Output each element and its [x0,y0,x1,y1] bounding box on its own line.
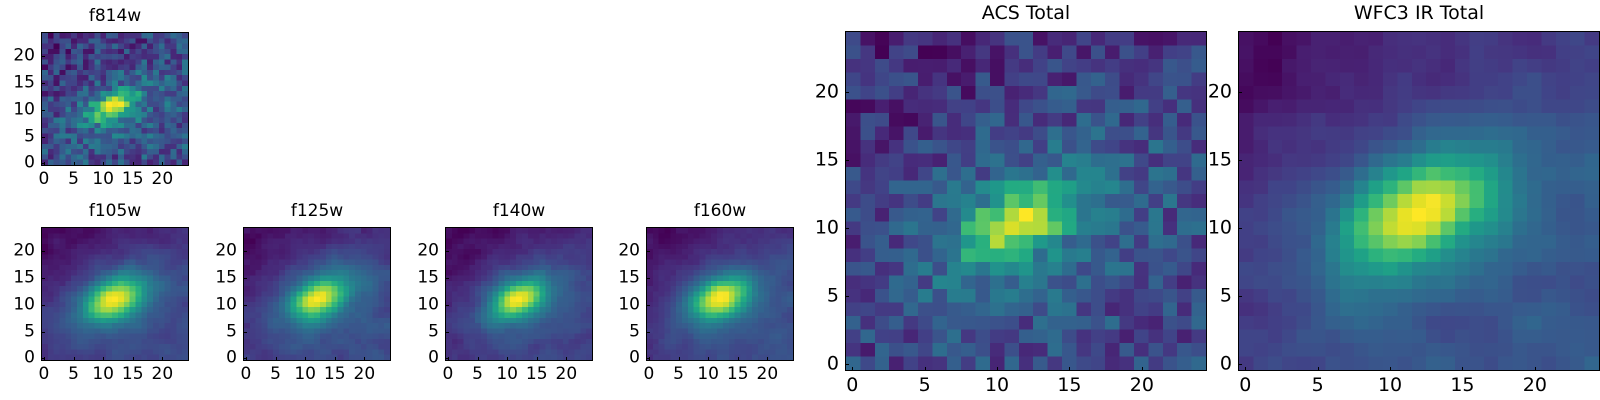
xtick-label-f105w-20: 20 [152,366,174,383]
ytick-mark-f140w-20 [445,251,449,252]
xtick-mark-f140w-0 [448,357,449,361]
heatmap-acs-total [846,32,1206,370]
xtick-mark-f105w-5 [74,357,75,361]
xtick-label-f140w-15: 15 [526,366,548,383]
ytick-label-wfc3-ir-total-5: 5 [1220,287,1232,306]
ytick-mark-f125w-5 [243,332,247,333]
xtick-mark-acs-total-15 [1069,367,1070,371]
ytick-label-wfc3-ir-total-0: 0 [1220,355,1232,374]
heatmap-f105w [42,228,188,360]
ytick-mark-f160w-10 [646,305,650,306]
ytick-label-f125w-20: 20 [215,243,237,260]
axes-f160w [646,227,794,361]
ytick-label-f105w-20: 20 [13,243,35,260]
xtick-label-wfc3-ir-total-15: 15 [1450,376,1474,395]
xtick-label-acs-total-20: 20 [1130,376,1154,395]
ytick-label-f125w-5: 5 [226,323,237,340]
ytick-label-f814w-10: 10 [13,101,35,118]
ytick-label-acs-total-15: 15 [815,151,839,170]
heatmap-wfc3-ir-total [1239,32,1599,370]
ytick-mark-f140w-15 [445,278,449,279]
xtick-mark-wfc3-ir-total-0 [1245,367,1246,371]
axes-f105w [41,227,189,361]
axes-f125w [243,227,391,361]
ytick-label-f140w-20: 20 [417,243,439,260]
xtick-mark-wfc3-ir-total-20 [1535,367,1536,371]
ytick-mark-wfc3-ir-total-15 [1238,160,1242,161]
xtick-mark-f105w-0 [44,357,45,361]
axes-f140w [445,227,593,361]
xtick-label-acs-total-15: 15 [1057,376,1081,395]
ytick-label-f125w-15: 15 [215,269,237,286]
ytick-label-f125w-0: 0 [226,350,237,367]
xtick-mark-f814w-10 [103,162,104,166]
xtick-label-acs-total-0: 0 [846,376,858,395]
xtick-mark-f125w-0 [246,357,247,361]
ytick-label-acs-total-5: 5 [827,287,839,306]
panel-f814w: f814w0510152005101520 [0,0,1600,400]
ytick-label-f140w-10: 10 [417,296,439,313]
ytick-mark-f125w-10 [243,305,247,306]
xtick-label-f814w-10: 10 [92,171,114,188]
ytick-label-f140w-5: 5 [428,323,439,340]
xtick-mark-acs-total-0 [852,367,853,371]
ytick-mark-f105w-10 [41,305,45,306]
ytick-mark-f814w-5 [41,137,45,138]
xtick-label-wfc3-ir-total-20: 20 [1523,376,1547,395]
xtick-label-f160w-15: 15 [727,366,749,383]
axes-acs-total [845,31,1207,371]
xtick-mark-f140w-10 [507,357,508,361]
xtick-label-acs-total-5: 5 [919,376,931,395]
xtick-mark-wfc3-ir-total-10 [1390,367,1391,371]
ytick-mark-f125w-0 [243,358,247,359]
xtick-label-f125w-5: 5 [270,366,281,383]
ytick-label-wfc3-ir-total-10: 10 [1208,219,1232,238]
ytick-mark-f140w-0 [445,358,449,359]
xtick-mark-f814w-0 [44,162,45,166]
xtick-label-wfc3-ir-total-0: 0 [1239,376,1251,395]
ytick-mark-f105w-0 [41,358,45,359]
xtick-mark-wfc3-ir-total-15 [1462,367,1463,371]
ytick-label-f160w-15: 15 [618,269,640,286]
ytick-mark-wfc3-ir-total-0 [1238,364,1242,365]
ytick-label-f140w-0: 0 [428,350,439,367]
ytick-label-f160w-10: 10 [618,296,640,313]
panel-f125w: f125w0510152005101520 [0,0,1600,400]
ytick-mark-acs-total-10 [845,228,849,229]
panel-f160w: f160w0510152005101520 [0,0,1600,400]
ytick-mark-wfc3-ir-total-10 [1238,228,1242,229]
xtick-label-f105w-5: 5 [68,366,79,383]
ytick-label-f160w-5: 5 [629,323,640,340]
xtick-label-f105w-0: 0 [39,366,50,383]
ytick-label-f140w-15: 15 [417,269,439,286]
axes-wfc3-ir-total [1238,31,1600,371]
ytick-mark-f140w-5 [445,332,449,333]
xtick-mark-acs-total-10 [997,367,998,371]
xtick-label-wfc3-ir-total-5: 5 [1312,376,1324,395]
xtick-mark-f105w-20 [162,357,163,361]
ytick-mark-f814w-0 [41,163,45,164]
xtick-mark-f140w-15 [537,357,538,361]
ytick-mark-f125w-20 [243,251,247,252]
xtick-mark-f125w-20 [364,357,365,361]
ytick-mark-acs-total-0 [845,364,849,365]
panel-acs-total: ACS Total0510152005101520 [0,0,1600,400]
xtick-label-f160w-10: 10 [697,366,719,383]
panel-f105w: f105w0510152005101520 [0,0,1600,400]
xtick-mark-f814w-15 [133,162,134,166]
ytick-label-f160w-20: 20 [618,243,640,260]
xtick-label-f140w-5: 5 [472,366,483,383]
xtick-label-wfc3-ir-total-10: 10 [1378,376,1402,395]
panel-title-f125w: f125w [243,203,391,220]
ytick-label-f105w-5: 5 [24,323,35,340]
ytick-mark-acs-total-20 [845,92,849,93]
panel-title-f160w: f160w [646,203,794,220]
xtick-mark-f814w-5 [74,162,75,166]
xtick-label-acs-total-10: 10 [985,376,1009,395]
ytick-mark-acs-total-5 [845,296,849,297]
ytick-mark-f814w-10 [41,110,45,111]
ytick-mark-f140w-10 [445,305,449,306]
ytick-label-f105w-10: 10 [13,296,35,313]
xtick-mark-f140w-5 [478,357,479,361]
xtick-mark-f160w-20 [767,357,768,361]
ytick-label-f125w-10: 10 [215,296,237,313]
panel-title-f105w: f105w [41,203,189,220]
ytick-mark-f125w-15 [243,278,247,279]
heatmap-f140w [446,228,592,360]
panel-title-f814w: f814w [41,8,189,25]
xtick-label-f814w-15: 15 [122,171,144,188]
ytick-mark-f160w-15 [646,278,650,279]
ytick-label-acs-total-0: 0 [827,355,839,374]
ytick-mark-f105w-20 [41,251,45,252]
xtick-label-f125w-10: 10 [294,366,316,383]
xtick-mark-f814w-20 [162,162,163,166]
xtick-mark-f160w-0 [649,357,650,361]
xtick-label-f160w-0: 0 [644,366,655,383]
ytick-label-f105w-15: 15 [13,269,35,286]
xtick-mark-f125w-10 [305,357,306,361]
xtick-mark-f125w-5 [276,357,277,361]
ytick-label-wfc3-ir-total-15: 15 [1208,151,1232,170]
xtick-mark-f160w-10 [708,357,709,361]
figure-canvas: f814w0510152005101520f105w05101520051015… [0,0,1600,400]
ytick-label-acs-total-20: 20 [815,83,839,102]
ytick-label-f814w-5: 5 [24,128,35,145]
xtick-mark-f105w-15 [133,357,134,361]
ytick-mark-f814w-15 [41,83,45,84]
ytick-mark-wfc3-ir-total-5 [1238,296,1242,297]
heatmap-f814w [42,33,188,165]
ytick-mark-f814w-20 [41,56,45,57]
panel-f140w: f140w0510152005101520 [0,0,1600,400]
ytick-label-f814w-15: 15 [13,74,35,91]
xtick-label-f105w-10: 10 [92,366,114,383]
ytick-mark-f105w-15 [41,278,45,279]
axes-f814w [41,32,189,166]
xtick-label-f125w-15: 15 [324,366,346,383]
xtick-label-f160w-20: 20 [757,366,779,383]
xtick-mark-acs-total-20 [1142,367,1143,371]
ytick-mark-f160w-20 [646,251,650,252]
xtick-label-f105w-15: 15 [122,366,144,383]
heatmap-f125w [244,228,390,360]
xtick-label-f125w-0: 0 [241,366,252,383]
ytick-mark-f105w-5 [41,332,45,333]
ytick-label-f160w-0: 0 [629,350,640,367]
xtick-label-f140w-10: 10 [496,366,518,383]
panel-title-wfc3-ir-total: WFC3 IR Total [1238,4,1600,23]
panel-wfc3-ir-total: WFC3 IR Total0510152005101520 [0,0,1600,400]
xtick-mark-f140w-20 [566,357,567,361]
heatmap-f160w [647,228,793,360]
xtick-mark-f125w-15 [335,357,336,361]
xtick-label-f160w-5: 5 [673,366,684,383]
xtick-label-f140w-20: 20 [556,366,578,383]
xtick-label-f814w-5: 5 [68,171,79,188]
xtick-label-f140w-0: 0 [443,366,454,383]
ytick-mark-f160w-5 [646,332,650,333]
ytick-mark-f160w-0 [646,358,650,359]
xtick-mark-acs-total-5 [925,367,926,371]
xtick-label-f814w-20: 20 [152,171,174,188]
xtick-label-f814w-0: 0 [39,171,50,188]
xtick-mark-wfc3-ir-total-5 [1318,367,1319,371]
xtick-label-f125w-20: 20 [354,366,376,383]
ytick-label-f105w-0: 0 [24,350,35,367]
panel-title-acs-total: ACS Total [845,4,1207,23]
ytick-label-f814w-20: 20 [13,48,35,65]
ytick-label-wfc3-ir-total-20: 20 [1208,83,1232,102]
ytick-mark-acs-total-15 [845,160,849,161]
ytick-label-acs-total-10: 10 [815,219,839,238]
panel-title-f140w: f140w [445,203,593,220]
ytick-mark-wfc3-ir-total-20 [1238,92,1242,93]
ytick-label-f814w-0: 0 [24,155,35,172]
xtick-mark-f160w-15 [738,357,739,361]
xtick-mark-f105w-10 [103,357,104,361]
xtick-mark-f160w-5 [679,357,680,361]
